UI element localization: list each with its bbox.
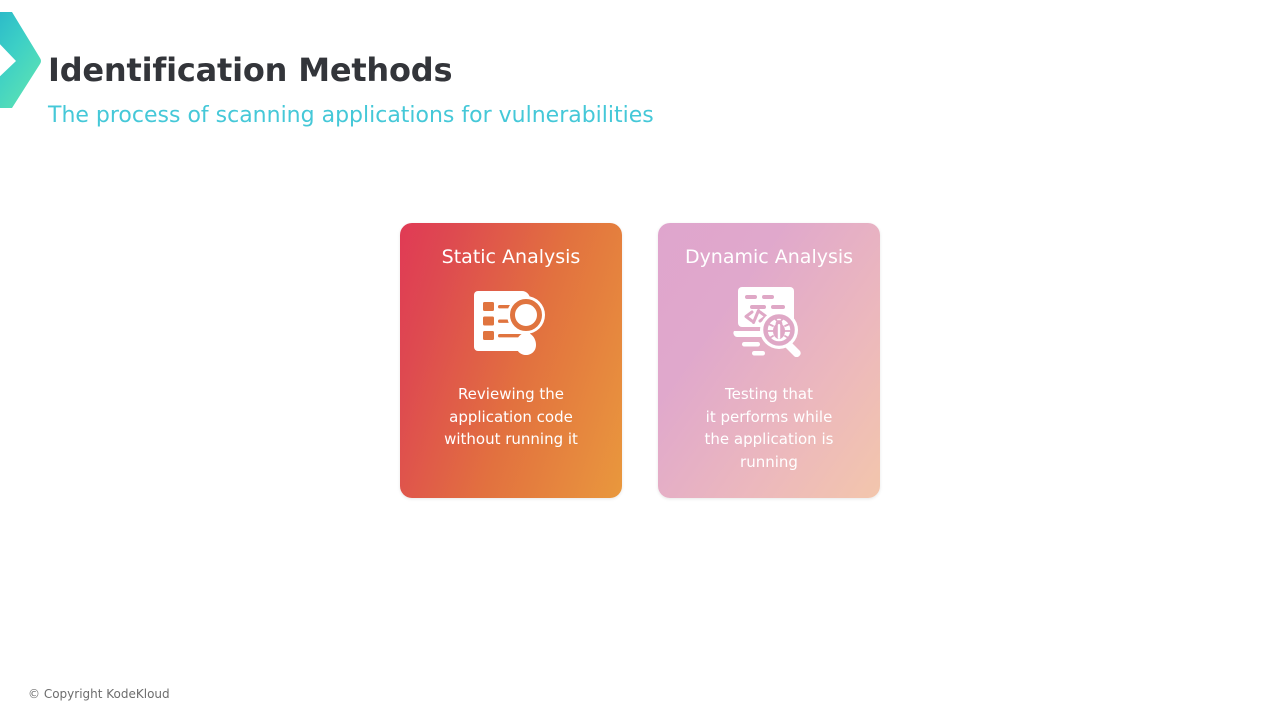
card-title: Static Analysis — [442, 246, 581, 269]
code-window-bug-magnifier-icon — [730, 285, 808, 357]
cards-row: Static Analysis Reviewing the applicatio… — [400, 223, 880, 498]
page-subtitle: The process of scanning applications for… — [48, 103, 1148, 129]
footer-copyright: © Copyright KodeKloud — [28, 688, 170, 700]
document-magnifier-icon — [472, 285, 550, 357]
chevron-right-decor-icon — [0, 12, 42, 108]
card-description: Testing that it performs while the appli… — [705, 383, 834, 474]
card-static-analysis[interactable]: Static Analysis Reviewing the applicatio… — [400, 223, 622, 498]
card-title: Dynamic Analysis — [685, 246, 853, 269]
card-dynamic-analysis[interactable]: Dynamic Analysis — [658, 223, 880, 498]
slide-header: Identification Methods The process of sc… — [48, 52, 1148, 129]
card-description: Reviewing the application code without r… — [444, 383, 578, 451]
page-title: Identification Methods — [48, 52, 1148, 90]
